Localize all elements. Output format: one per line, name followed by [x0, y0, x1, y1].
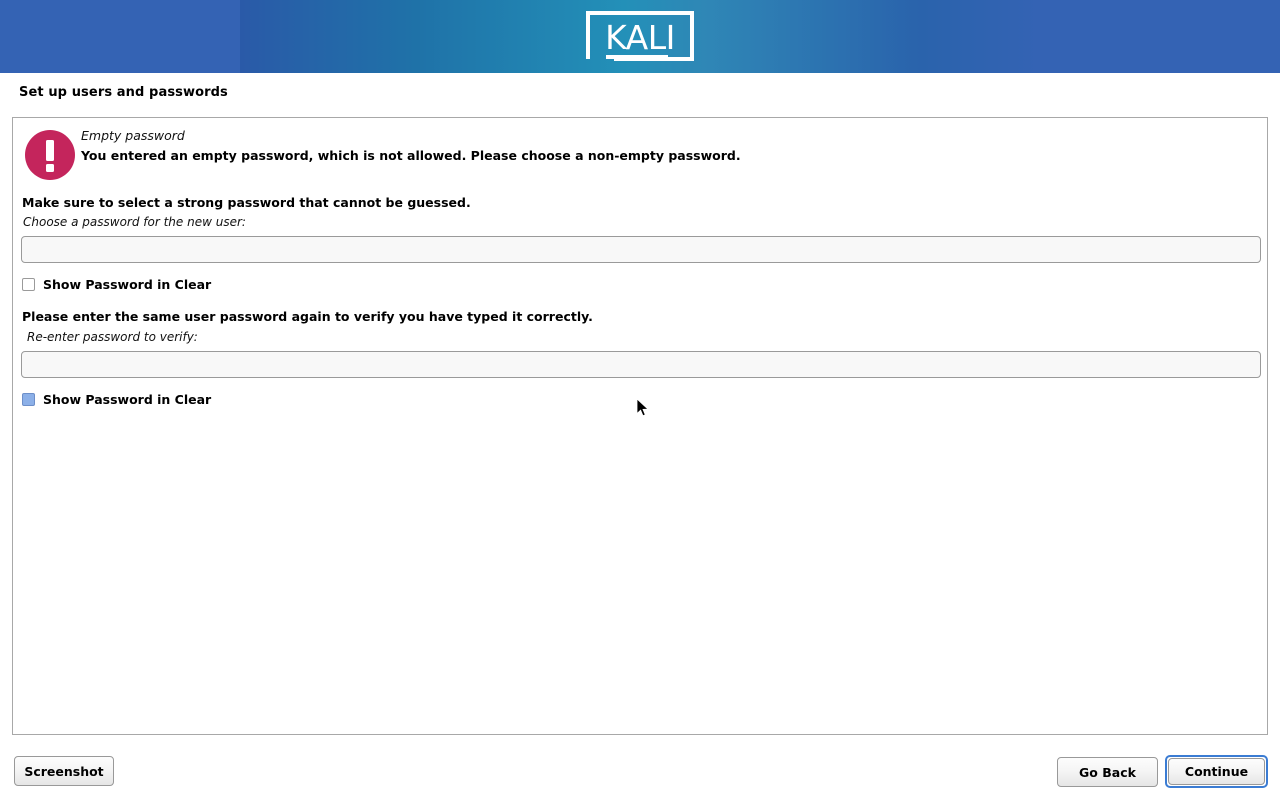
kali-logo: KALI [584, 9, 696, 65]
alert-title: Empty password [81, 127, 741, 144]
alert-description: You entered an empty password, which is … [81, 146, 741, 166]
installer-content-panel: Empty password You entered an empty pass… [12, 117, 1268, 735]
continue-button[interactable]: Continue [1168, 758, 1265, 785]
verify-password-input[interactable] [21, 351, 1261, 378]
error-exclamation-icon [25, 130, 75, 180]
verify-password-hint: Please enter the same user password agai… [22, 309, 593, 324]
kali-logo-text: KALI [605, 18, 675, 57]
password-strength-hint: Make sure to select a strong password th… [22, 195, 471, 210]
show-password-checkbox-1[interactable] [22, 278, 35, 291]
show-password-checkbox-1-label: Show Password in Clear [43, 277, 211, 292]
alert-banner: Empty password You entered an empty pass… [13, 118, 1267, 188]
new-password-label: Choose a password for the new user: [23, 215, 246, 229]
show-password-clear-row-1[interactable]: Show Password in Clear [22, 277, 211, 292]
kali-banner: KALI [0, 0, 1280, 73]
go-back-button[interactable]: Go Back [1057, 757, 1158, 787]
show-password-checkbox-2[interactable] [22, 393, 35, 406]
show-password-clear-row-2[interactable]: Show Password in Clear [22, 392, 211, 407]
show-password-checkbox-2-label: Show Password in Clear [43, 392, 211, 407]
page-title: Set up users and passwords [19, 85, 228, 100]
screenshot-button[interactable]: Screenshot [14, 756, 114, 786]
new-password-input[interactable] [21, 236, 1261, 263]
verify-password-label: Re-enter password to verify: [27, 330, 198, 344]
alert-text-group: Empty password You entered an empty pass… [81, 127, 741, 166]
